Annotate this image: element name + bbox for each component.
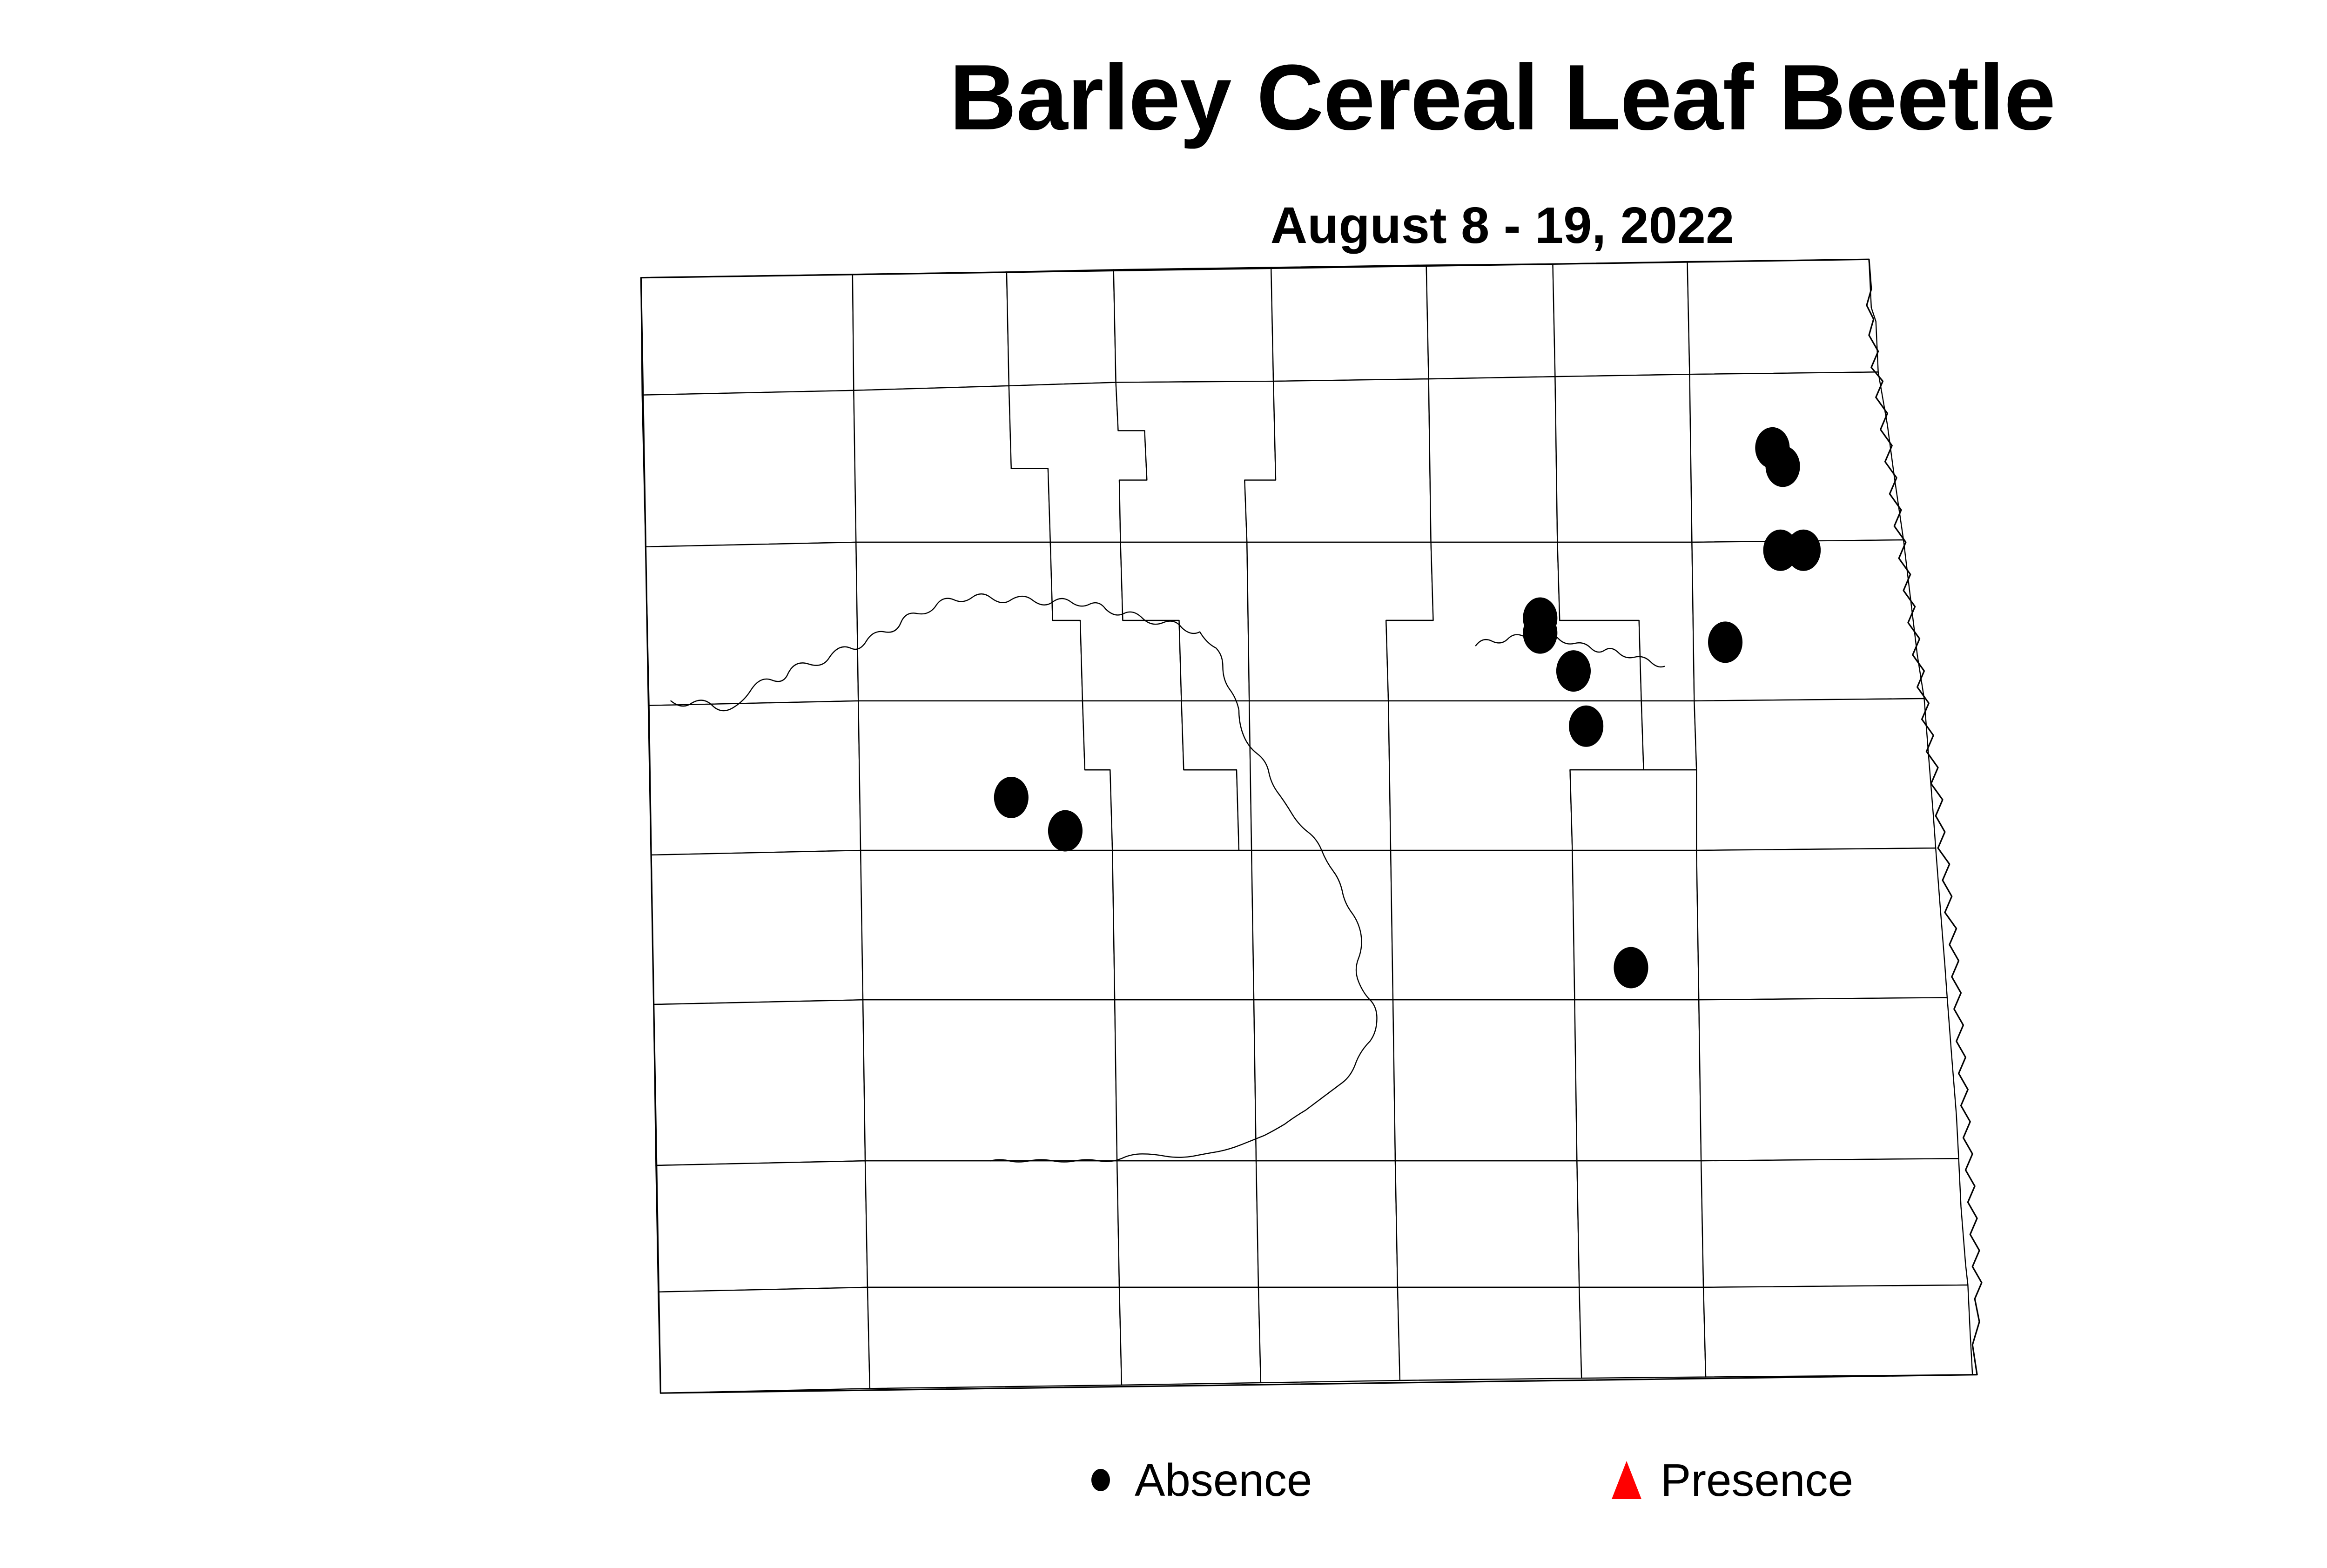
county-sioux-west <box>1119 1287 1261 1385</box>
data-point-absence <box>1523 612 1557 654</box>
county-divide <box>641 274 854 395</box>
county-billings <box>653 1000 865 1165</box>
county-emmons-logan <box>1256 1161 1398 1287</box>
data-point-absence <box>994 777 1029 818</box>
county-dunn <box>861 850 1115 1000</box>
county-lamoure <box>1395 1161 1579 1287</box>
county-oliver-mercer <box>1112 850 1254 1000</box>
county-mountrail-south <box>856 542 1083 701</box>
county-cavalier <box>1553 262 1689 377</box>
county-billings-north <box>652 850 863 1004</box>
county-morton-north <box>1115 1000 1256 1161</box>
county-sioux <box>1258 1287 1400 1383</box>
county-cass <box>1699 997 1958 1161</box>
county-slope <box>656 1161 868 1292</box>
filled-triangle-icon <box>1601 1461 1652 1499</box>
county-stutsman <box>1393 1000 1577 1161</box>
county-richland <box>1701 1158 1968 1287</box>
page-title: Barley Cereal Leaf Beetle <box>0 51 2327 144</box>
legend-item-absence: Absence <box>1075 1447 1312 1513</box>
county-traill <box>1696 848 1947 1000</box>
data-point-absence <box>1786 530 1821 571</box>
county-renville <box>1007 269 1116 386</box>
county-ransom <box>1577 1161 1703 1287</box>
county-barnes <box>1574 1000 1701 1161</box>
county-mckenzie-upper <box>646 542 858 706</box>
county-bottineau <box>1114 267 1273 382</box>
county-sargent <box>1579 1287 1706 1378</box>
county-pembina <box>1688 259 1878 374</box>
data-point-absence <box>1614 947 1648 989</box>
map-page: Barley Cereal Leaf Beetle August 8 - 19,… <box>0 0 2327 1568</box>
data-point-absence <box>1766 445 1800 487</box>
county-stark <box>863 1000 1117 1161</box>
county-wells <box>1249 701 1391 850</box>
county-mcintosh-dickey <box>1398 1287 1581 1380</box>
county-bowman <box>658 1287 870 1393</box>
county-burke <box>853 272 1009 390</box>
legend-label-absence: Absence <box>1135 1457 1312 1503</box>
county-burleigh-kidder <box>1254 1000 1395 1161</box>
data-point-absence <box>1048 810 1083 852</box>
county-kidder-north <box>1251 850 1393 1000</box>
county-hettinger <box>865 1161 1119 1287</box>
county-nelson-west <box>1641 701 1697 770</box>
county-towner <box>1426 264 1555 379</box>
county-ramsey-north <box>1555 374 1692 542</box>
map-svg <box>535 251 2327 1415</box>
page-subtitle: August 8 - 19, 2022 <box>0 200 2327 251</box>
county-adams <box>868 1287 1122 1388</box>
county-benson-north <box>1429 377 1558 542</box>
north-dakota-map <box>535 251 2327 1415</box>
legend-label-presence: Presence <box>1661 1457 1853 1503</box>
data-point-absence <box>1569 706 1603 747</box>
county-grandforks <box>1694 699 1936 850</box>
legend-item-presence: Presence <box>1601 1447 1853 1513</box>
county-grant <box>1117 1161 1258 1287</box>
county-mckenzie <box>649 701 861 855</box>
map-legend: Absence Presence <box>0 1438 2327 1522</box>
data-point-absence <box>1708 621 1742 663</box>
county-stutsman-north <box>1391 850 1574 1000</box>
county-richland-south <box>1703 1285 1972 1377</box>
county-williams <box>642 390 856 547</box>
county-rolette <box>1271 265 1428 382</box>
filled-circle-icon <box>1075 1469 1126 1491</box>
data-point-absence <box>1556 650 1591 692</box>
county-nelson <box>1570 770 1697 850</box>
